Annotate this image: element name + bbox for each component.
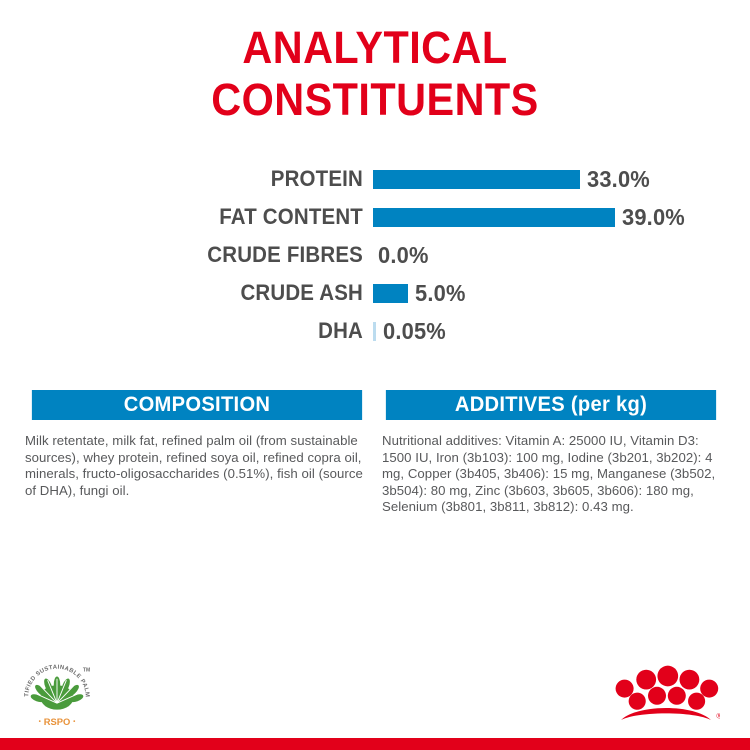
additives-panel: ADDITIVES (per kg) Nutritional additives… xyxy=(379,390,723,516)
page-title: ANALYTICAL CONSTITUENTS xyxy=(30,22,720,126)
constituent-value: 0.0% xyxy=(378,242,429,269)
constituent-label: PROTEIN xyxy=(25,166,363,192)
constituent-row-fat-content: FAT CONTENT 39.0% xyxy=(0,198,750,236)
crown-icon: ® xyxy=(612,664,720,724)
constituent-row-dha: DHA 0.05% xyxy=(0,312,750,350)
constituent-label: DHA xyxy=(25,318,363,344)
constituent-bar xyxy=(373,208,615,227)
constituent-bar-track: 5.0% xyxy=(373,274,750,312)
rspo-dot-right-icon: • xyxy=(73,718,76,725)
constituent-row-crude-ash: CRUDE ASH 5.0% xyxy=(0,274,750,312)
constituent-bar-track: 0.05% xyxy=(373,312,750,350)
constituent-bar xyxy=(373,284,408,303)
rspo-acronym: RSPO xyxy=(44,717,71,727)
rspo-icon: CERTIFIED SUSTAINABLE PALM OIL RSPO • • … xyxy=(18,660,96,732)
registered-trademark: ® xyxy=(716,711,720,720)
constituent-value: 33.0% xyxy=(587,166,650,193)
rspo-dot-left-icon: • xyxy=(39,718,42,725)
constituent-value: 5.0% xyxy=(415,280,466,307)
constituent-row-protein: PROTEIN 33.0% xyxy=(0,160,750,198)
constituent-bar-track: 0.0% xyxy=(373,236,750,274)
additives-panel-body: Nutritional additives: Vitamin A: 25000 … xyxy=(379,420,723,516)
rspo-logo: CERTIFIED SUSTAINABLE PALM OIL RSPO • • … xyxy=(18,660,96,732)
royal-canin-logo: ® xyxy=(612,664,720,724)
constituent-label: CRUDE FIBRES xyxy=(25,242,363,268)
page-title-line-2: CONSTITUENTS xyxy=(30,74,720,126)
composition-panel-body: Milk retentate, milk fat, refined palm o… xyxy=(25,420,369,499)
rspo-trademark: TM xyxy=(83,668,90,674)
analytical-constituents-chart: PROTEIN 33.0% FAT CONTENT 39.0% CRUDE FI… xyxy=(0,160,750,350)
constituent-bar-track: 33.0% xyxy=(373,160,750,198)
constituent-bar xyxy=(373,170,580,189)
constituent-label: CRUDE ASH xyxy=(25,280,363,306)
info-panels: COMPOSITION Milk retentate, milk fat, re… xyxy=(25,390,723,516)
composition-panel: COMPOSITION Milk retentate, milk fat, re… xyxy=(25,390,369,516)
constituent-row-crude-fibres: CRUDE FIBRES 0.0% xyxy=(0,236,750,274)
additives-panel-header: ADDITIVES (per kg) xyxy=(386,390,716,420)
page-title-line-1: ANALYTICAL xyxy=(30,22,720,74)
constituent-bar-track: 39.0% xyxy=(373,198,750,236)
constituent-value: 39.0% xyxy=(622,204,685,231)
constituent-bar xyxy=(373,322,376,341)
constituent-value: 0.05% xyxy=(383,318,446,345)
composition-panel-header: COMPOSITION xyxy=(32,390,362,420)
constituent-label: FAT CONTENT xyxy=(25,204,363,230)
bottom-red-bar xyxy=(0,738,750,750)
